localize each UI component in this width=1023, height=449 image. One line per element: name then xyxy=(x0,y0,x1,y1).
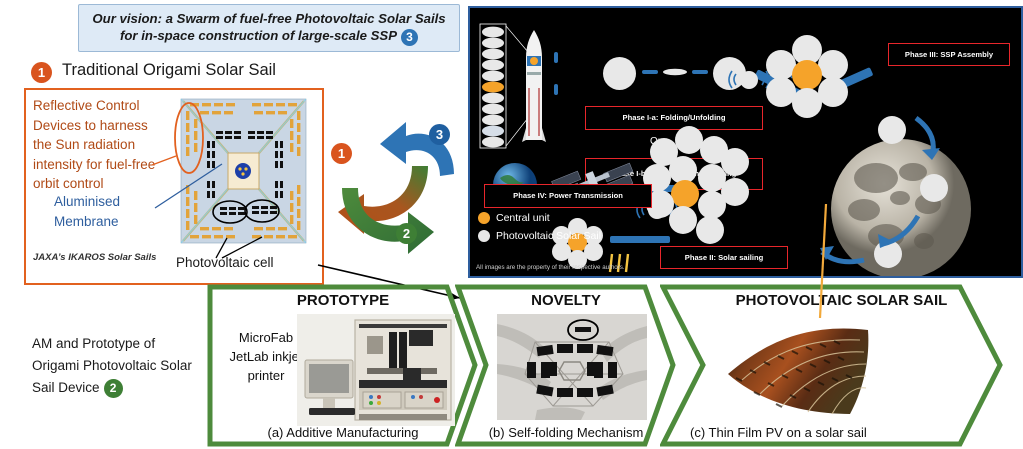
phase-box-1a: Phase I-a: Folding/Unfolding xyxy=(585,106,763,130)
legend-label-solar-sail: Photovoltaic Solar Sail xyxy=(496,230,601,242)
transmitting-sail-icon xyxy=(726,66,772,92)
sail-dot xyxy=(818,77,848,107)
legend-row-central-unit: Central unit xyxy=(478,212,550,224)
ikaros-solar-sail-diagram xyxy=(178,95,309,247)
vision-statement-text: Our vision: a Swarm of fuel-free Photovo… xyxy=(79,10,459,45)
chevron-caption-pv-sail: (c) Thin Film PV on a solar sail xyxy=(660,425,1023,440)
legend-dot-solar-sail xyxy=(478,230,490,242)
sail-dot xyxy=(696,216,724,244)
folded-sail-icon xyxy=(662,64,688,80)
sail-dot xyxy=(721,178,749,206)
legend-row-solar-sail: Photovoltaic Solar Sail xyxy=(478,230,601,242)
sail-dot xyxy=(675,126,703,154)
thin-film-pv-photo xyxy=(720,318,890,424)
chevron-panel-novelty: NOVELTY (b) S xyxy=(455,284,677,447)
jaxa-ikaros-credit: JAXA’s IKAROS Solar Sails xyxy=(33,252,156,263)
sail-dot xyxy=(878,116,906,144)
section1-badge: 1 xyxy=(31,62,52,83)
reflective-control-devices-label: Reflective Control Devices to harness th… xyxy=(33,96,161,194)
sail-dot xyxy=(920,174,948,202)
vision-badge-3: 3 xyxy=(401,29,418,46)
inkjet-printer-photo xyxy=(297,314,455,426)
sail-dot xyxy=(818,50,848,80)
sail-dot xyxy=(874,240,902,268)
sail-dot xyxy=(584,242,603,261)
sail-dot-central xyxy=(792,60,822,90)
vision-statement-box: Our vision: a Swarm of fuel-free Photovo… xyxy=(78,4,460,52)
sail-dot xyxy=(603,57,636,90)
chevron-title-pv-sail: PHOTOVOLTAIC SOLAR SAIL xyxy=(660,292,1023,309)
cycle-badge-3: 3 xyxy=(429,124,450,145)
chevron-title-novelty: NOVELTY xyxy=(455,292,677,309)
rocket-icon xyxy=(522,28,550,148)
section2-badge-2: 2 xyxy=(104,379,123,398)
sail-dot-central xyxy=(671,180,699,208)
phase-box-3: Phase III: SSP Assembly xyxy=(888,43,1010,66)
legend-dot-central-unit xyxy=(478,212,490,224)
photovoltaic-cell-label: Photovoltaic cell xyxy=(176,255,274,270)
image-credit-text: All images are the property of their res… xyxy=(476,264,625,271)
cycle-badge-2: 2 xyxy=(396,223,417,244)
self-folding-mechanism-photo xyxy=(497,314,647,420)
chevron-panel-prototype: PROTOTYPE MicroFab JetLab inkjet printer… xyxy=(207,284,479,447)
sail-dot xyxy=(669,206,697,234)
phase-box-2: Phase II: Solar sailing xyxy=(660,246,788,269)
chevron-panel-photovoltaic-solar-sail: PHOTOVOLTAIC SOLAR SAIL (c) Thin Film PV… xyxy=(660,284,1023,447)
space-mission-concept-image: Phase I-a: Folding/Unfolding Or Phase I-… xyxy=(468,6,1023,278)
phase-box-4: Phase IV: Power Transmission xyxy=(484,184,652,208)
section2-label: AM and Prototype of Origami Photovoltaic… xyxy=(32,333,202,399)
legend-label-central-unit: Central unit xyxy=(496,212,550,224)
chevron-caption-novelty: (b) Self-folding Mechanism xyxy=(455,425,677,440)
vision-text-content: Our vision: a Swarm of fuel-free Photovo… xyxy=(92,11,445,43)
cycle-badge-1: 1 xyxy=(331,143,352,164)
sail-dot xyxy=(721,148,749,176)
section1-title: Traditional Origami Solar Sail xyxy=(62,61,276,80)
aluminised-membrane-label: Aluminised Membrane xyxy=(54,192,174,231)
